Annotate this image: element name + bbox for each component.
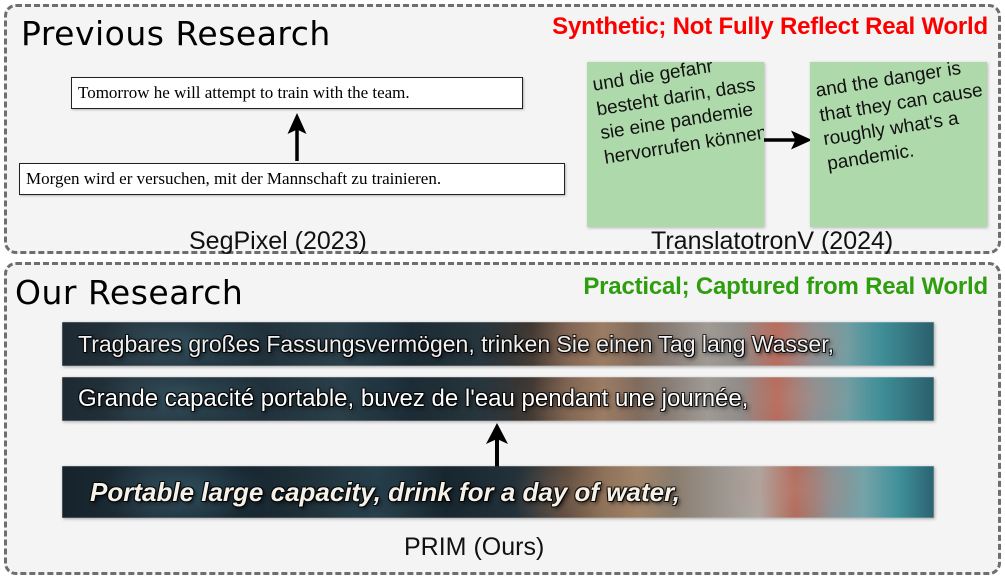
- prim-strip-english: Portable large capacity, drink for a day…: [62, 466, 934, 518]
- prim-strip-french-text: Grande capacité portable, buvez de l'eau…: [78, 377, 926, 421]
- caption-prim: PRIM (Ours): [404, 533, 544, 562]
- prim-strip-german-text: Tragbares großes Fassungsvermögen, trink…: [78, 322, 926, 366]
- segpixel-english-textbox: Tomorrow he will attempt to train with t…: [71, 77, 523, 109]
- panel-tag-synthetic: Synthetic; Not Fully Reflect Real World: [552, 13, 988, 41]
- translatotron-german-card: und die gefahr besteht darin, dass sie e…: [587, 62, 764, 227]
- translatotron-english-text: and the danger is that they can cause ro…: [814, 62, 987, 178]
- prim-strip-french: Grande capacité portable, buvez de l'eau…: [62, 377, 934, 421]
- translatotron-english-card: and the danger is that they can cause ro…: [810, 62, 987, 227]
- panel-previous-research: Previous Research Synthetic; Not Fully R…: [4, 4, 1001, 254]
- caption-translatotron: TranslatotronV (2024): [651, 227, 893, 256]
- prim-strip-german: Tragbares großes Fassungsvermögen, trink…: [62, 322, 934, 366]
- panel-tag-practical: Practical; Captured from Real World: [583, 273, 988, 301]
- translatotron-german-text: und die gefahr besteht darin, dass sie e…: [591, 62, 764, 172]
- segpixel-german-textbox: Morgen wird er versuchen, mit der Mannsc…: [19, 163, 565, 195]
- panel-title-our-research: Our Research: [15, 273, 243, 312]
- arrow-right-icon-translatotron: [764, 125, 812, 155]
- figure-root: Previous Research Synthetic; Not Fully R…: [0, 0, 1005, 579]
- caption-segpixel: SegPixel (2023): [189, 227, 367, 256]
- prim-strip-english-text: Portable large capacity, drink for a day…: [90, 466, 926, 518]
- panel-title-previous-research: Previous Research: [21, 14, 331, 53]
- arrow-up-icon-segpixel: [282, 113, 312, 161]
- arrow-up-icon-prim: [481, 423, 513, 467]
